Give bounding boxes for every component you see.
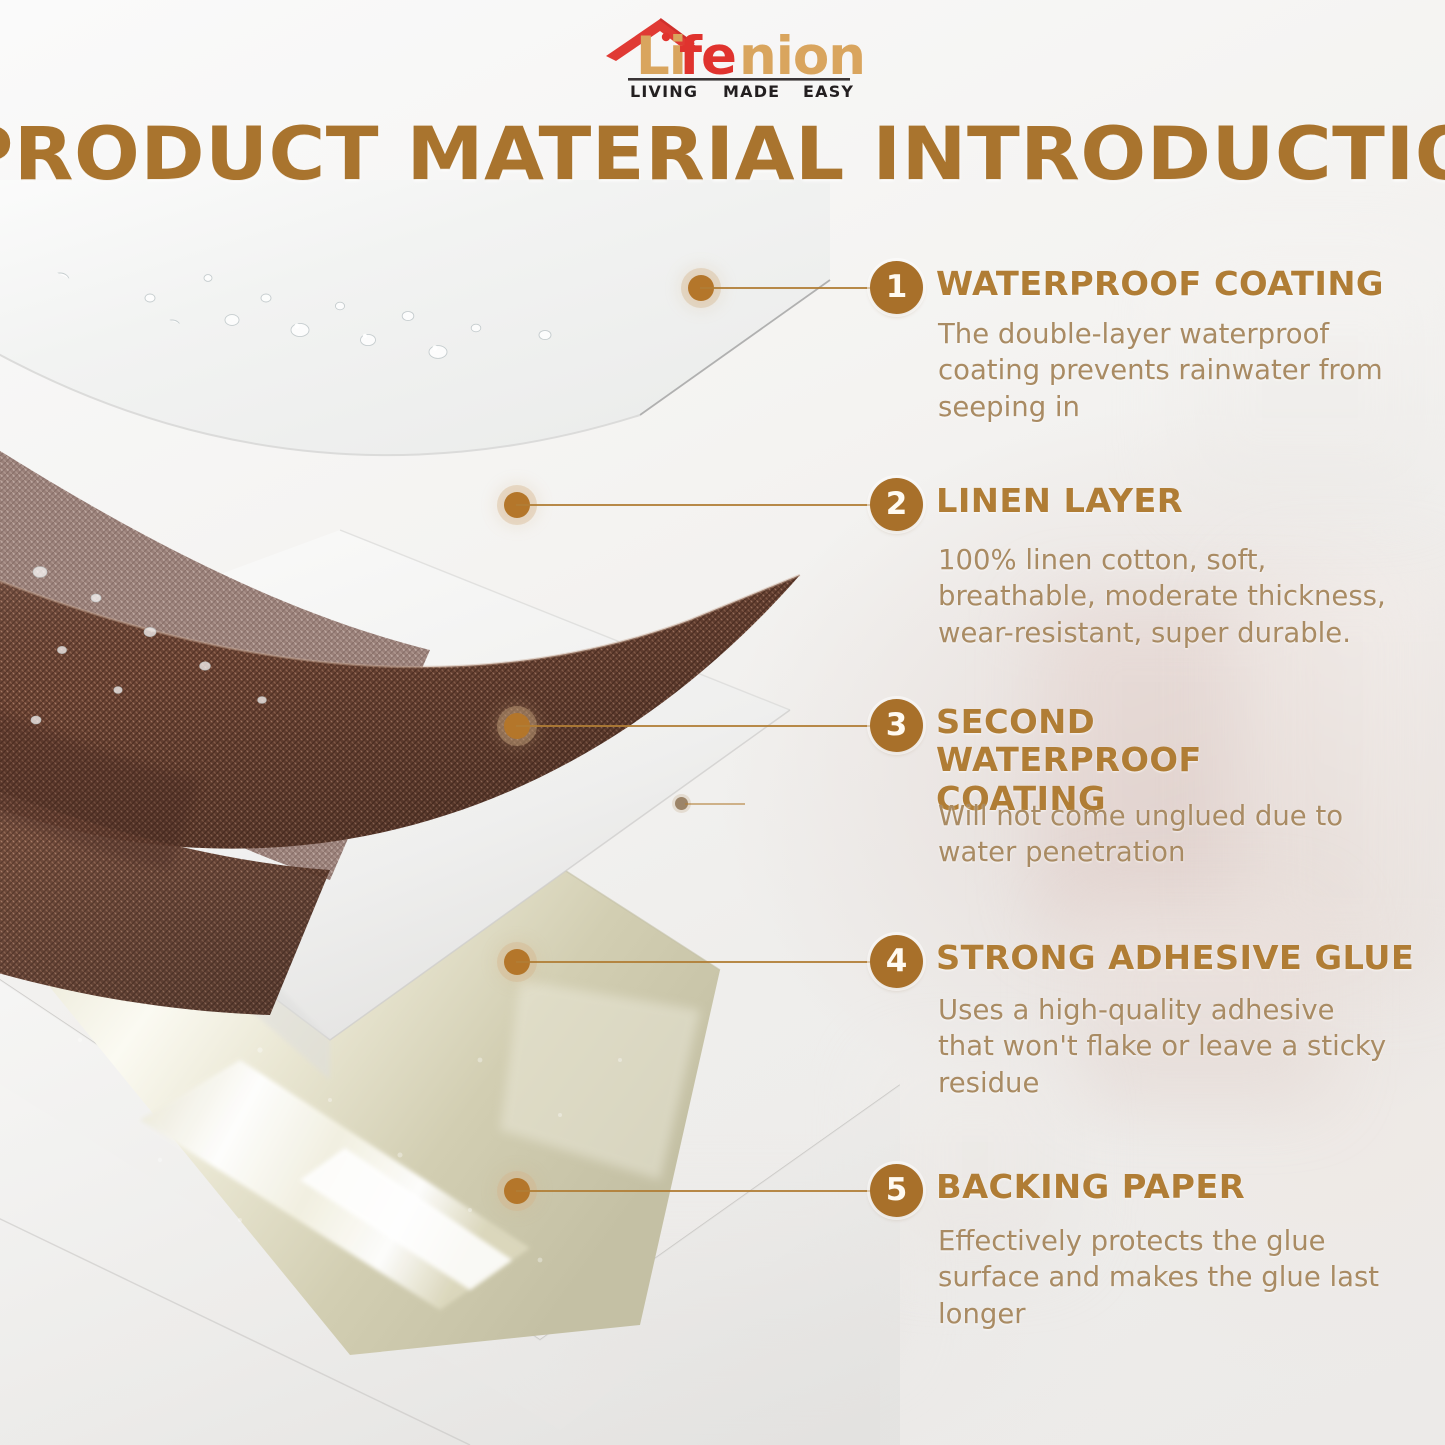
callout-title-1: WATERPROOF COATING [936,265,1426,303]
svg-text:nion: nion [739,26,862,87]
leader-line-4 [516,961,882,963]
callout-title-5: BACKING PAPER [936,1168,1426,1206]
callout-body-5: Effectively protects the glue surface an… [938,1223,1418,1332]
callout-body-2: 100% linen cotton, soft, breathable, mod… [938,542,1418,651]
svg-text:MADE: MADE [723,82,780,100]
callout-body-4: Uses a high-quality adhesive that won't … [938,992,1418,1101]
brand-logo: Li fe nion LIVING MADE EASY [600,12,862,100]
callout-title-4: STRONG ADHESIVE GLUE [936,939,1426,977]
callout-body-3: Will not come unglued due to water penet… [938,798,1408,871]
leader-line-3 [516,725,882,727]
leader-line-2 [516,504,882,506]
callout-number-5: 5 [870,1164,923,1217]
svg-text:LIVING: LIVING [630,82,698,100]
callout-number-1: 1 [870,261,923,314]
svg-text:fe: fe [679,26,736,87]
leader-line-1 [700,287,882,289]
callout-number-2: 2 [870,478,923,531]
callout-body-1: The double-layer waterproof coating prev… [938,316,1408,425]
infographic-canvas: Li fe nion LIVING MADE EASY PRODUCT MATE… [0,0,1445,1445]
callout-list: 1 WATERPROOF COATING The double-layer wa… [0,0,1445,1445]
callout-number-3: 3 [870,699,923,752]
callout-title-2: LINEN LAYER [936,482,1426,520]
callout-number-4: 4 [870,935,923,988]
svg-text:EASY: EASY [803,82,854,100]
leader-line-3b [685,803,745,805]
page-title: PRODUCT MATERIAL INTRODUCTIONS [0,112,1445,197]
leader-line-5 [516,1190,882,1192]
